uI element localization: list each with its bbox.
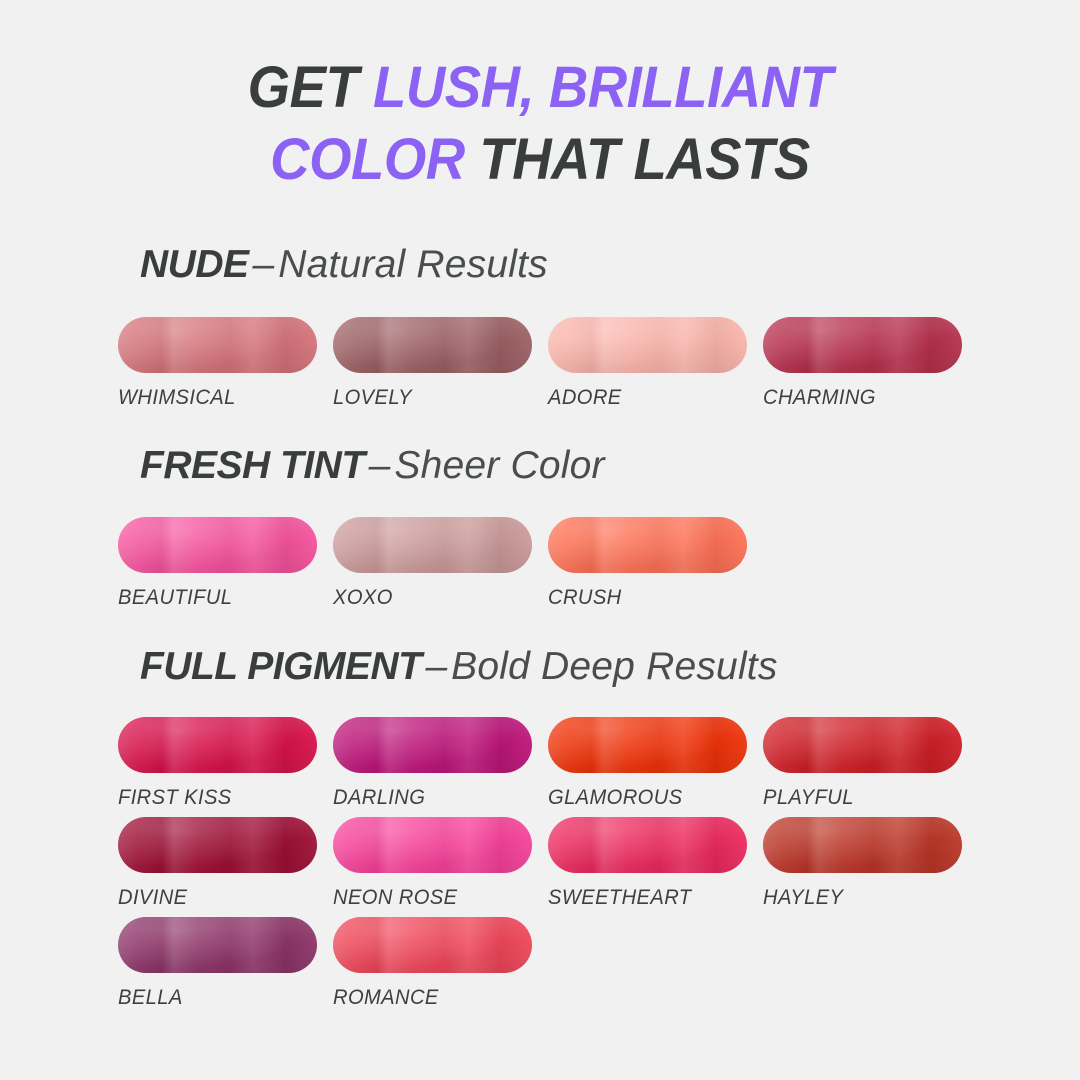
swatch-color-first-kiss[interactable] bbox=[118, 717, 317, 773]
swatch-row: DIVINENEON ROSESWEETHEARTHAYLEY bbox=[118, 817, 1018, 917]
swatch-label: NEON ROSE bbox=[333, 886, 524, 910]
swatch-label: GLAMOROUS bbox=[548, 786, 739, 810]
headline-text-lush-brilliant: LUSH, BRILLIANT bbox=[373, 55, 832, 120]
section-subtitle-fresh-tint: Sheer Color bbox=[394, 444, 604, 487]
swatch-color-crush[interactable] bbox=[548, 517, 747, 573]
section-title-full-pigment: FULL PIGMENT bbox=[140, 645, 421, 688]
swatch-color-whimsical[interactable] bbox=[118, 317, 317, 373]
swatch-cell-lovely[interactable]: LOVELY bbox=[333, 317, 532, 410]
swatch-cell-sweetheart[interactable]: SWEETHEART bbox=[548, 817, 747, 910]
swatch-color-lovely[interactable] bbox=[333, 317, 532, 373]
swatch-label: DIVINE bbox=[118, 886, 309, 910]
swatch-label: FIRST KISS bbox=[118, 786, 309, 810]
swatch-cell-bella[interactable]: BELLA bbox=[118, 917, 317, 1010]
swatch-label: WHIMSICAL bbox=[118, 386, 309, 410]
swatch-color-darling[interactable] bbox=[333, 717, 532, 773]
swatch-cell-adore[interactable]: ADORE bbox=[548, 317, 747, 410]
swatch-label: DARLING bbox=[333, 786, 524, 810]
swatch-label: ROMANCE bbox=[333, 986, 524, 1010]
swatch-color-xoxo[interactable] bbox=[333, 517, 532, 573]
headline-text-color: COLOR bbox=[270, 127, 465, 192]
swatch-cell-xoxo[interactable]: XOXO bbox=[333, 517, 532, 610]
headline-text-that-lasts: THAT LASTS bbox=[465, 127, 810, 192]
swatch-label: HAYLEY bbox=[763, 886, 954, 910]
swatch-color-neon-rose[interactable] bbox=[333, 817, 532, 873]
page-headline: GET LUSH, BRILLIANT COLOR THAT LASTS bbox=[32, 52, 1047, 196]
section-subtitle-full-pigment: Bold Deep Results bbox=[451, 645, 777, 688]
swatch-label: PLAYFUL bbox=[763, 786, 954, 810]
section-heading-fresh-tint: FRESH TINT–Sheer Color bbox=[140, 444, 605, 488]
swatch-color-romance[interactable] bbox=[333, 917, 532, 973]
swatch-cell-whimsical[interactable]: WHIMSICAL bbox=[118, 317, 317, 410]
swatch-color-beautiful[interactable] bbox=[118, 517, 317, 573]
swatch-label: ADORE bbox=[548, 386, 739, 410]
headline-line-2: COLOR THAT LASTS bbox=[32, 124, 1047, 196]
section-subtitle-nude: Natural Results bbox=[278, 243, 548, 286]
swatch-label: BELLA bbox=[118, 986, 309, 1010]
swatch-row: WHIMSICALLOVELYADORECHARMING bbox=[118, 317, 1018, 417]
swatch-label: CHARMING bbox=[763, 386, 954, 410]
section-dash-fresh-tint: – bbox=[365, 444, 395, 487]
swatch-row: BEAUTIFULXOXOCRUSH bbox=[118, 517, 1018, 617]
swatch-label: BEAUTIFUL bbox=[118, 586, 309, 610]
swatch-color-glamorous[interactable] bbox=[548, 717, 747, 773]
swatch-row: BELLAROMANCE bbox=[118, 917, 1018, 1017]
swatch-color-hayley[interactable] bbox=[763, 817, 962, 873]
swatch-color-charming[interactable] bbox=[763, 317, 962, 373]
headline-text-get: GET bbox=[248, 55, 373, 120]
swatch-cell-darling[interactable]: DARLING bbox=[333, 717, 532, 810]
swatch-cell-first-kiss[interactable]: FIRST KISS bbox=[118, 717, 317, 810]
section-heading-nude: NUDE–Natural Results bbox=[140, 243, 548, 287]
swatch-cell-crush[interactable]: CRUSH bbox=[548, 517, 747, 610]
swatch-color-playful[interactable] bbox=[763, 717, 962, 773]
swatch-cell-romance[interactable]: ROMANCE bbox=[333, 917, 532, 1010]
swatch-label: XOXO bbox=[333, 586, 524, 610]
swatch-cell-hayley[interactable]: HAYLEY bbox=[763, 817, 962, 910]
swatch-label: SWEETHEART bbox=[548, 886, 739, 910]
swatch-cell-neon-rose[interactable]: NEON ROSE bbox=[333, 817, 532, 910]
swatch-row: FIRST KISSDARLINGGLAMOROUSPLAYFUL bbox=[118, 717, 1018, 817]
swatch-color-divine[interactable] bbox=[118, 817, 317, 873]
swatch-color-bella[interactable] bbox=[118, 917, 317, 973]
swatch-cell-beautiful[interactable]: BEAUTIFUL bbox=[118, 517, 317, 610]
lipstick-shade-chart: GET LUSH, BRILLIANT COLOR THAT LASTS NUD… bbox=[0, 0, 1080, 1080]
section-dash-nude: – bbox=[249, 243, 279, 286]
swatch-label: CRUSH bbox=[548, 586, 739, 610]
swatch-cell-glamorous[interactable]: GLAMOROUS bbox=[548, 717, 747, 810]
section-dash-full-pigment: – bbox=[421, 645, 451, 688]
swatch-cell-charming[interactable]: CHARMING bbox=[763, 317, 962, 410]
swatch-color-sweetheart[interactable] bbox=[548, 817, 747, 873]
swatch-color-adore[interactable] bbox=[548, 317, 747, 373]
section-heading-full-pigment: FULL PIGMENT–Bold Deep Results bbox=[140, 645, 778, 689]
swatch-cell-divine[interactable]: DIVINE bbox=[118, 817, 317, 910]
swatch-label: LOVELY bbox=[333, 386, 524, 410]
swatch-cell-playful[interactable]: PLAYFUL bbox=[763, 717, 962, 810]
headline-line-1: GET LUSH, BRILLIANT bbox=[32, 52, 1047, 124]
section-title-fresh-tint: FRESH TINT bbox=[140, 444, 365, 487]
section-title-nude: NUDE bbox=[140, 243, 249, 286]
